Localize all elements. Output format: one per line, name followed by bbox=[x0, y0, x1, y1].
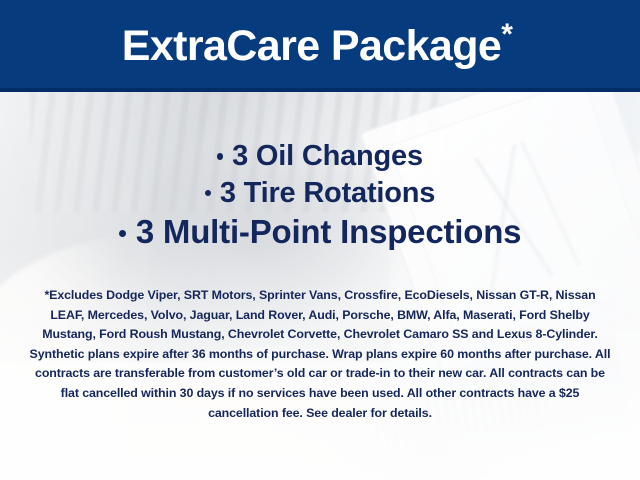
benefit-label: 3 Multi-Point Inspections bbox=[136, 213, 522, 250]
page-title-asterisk: * bbox=[501, 18, 512, 51]
list-item: 3 Multi-Point Inspections bbox=[0, 211, 640, 253]
bullet-icon bbox=[217, 153, 223, 159]
benefit-label: 3 Tire Rotations bbox=[220, 177, 435, 209]
list-item: 3 Tire Rotations bbox=[0, 175, 640, 212]
benefit-label: 3 Oil Changes bbox=[232, 140, 423, 172]
header-banner: ExtraCare Package* bbox=[0, 0, 640, 92]
list-item: 3 Oil Changes bbox=[0, 138, 640, 175]
page-title-text: ExtraCare Package bbox=[122, 22, 501, 70]
page-title: ExtraCare Package* bbox=[0, 20, 640, 68]
extracare-package-ad: ExtraCare Package* 3 Oil Changes 3 Tire … bbox=[0, 0, 640, 480]
disclaimer-text: *Excludes Dodge Viper, SRT Motors, Sprin… bbox=[28, 286, 612, 423]
benefits-list: 3 Oil Changes 3 Tire Rotations 3 Multi-P… bbox=[0, 138, 640, 253]
bullet-icon bbox=[119, 230, 126, 237]
bullet-icon bbox=[205, 190, 211, 196]
